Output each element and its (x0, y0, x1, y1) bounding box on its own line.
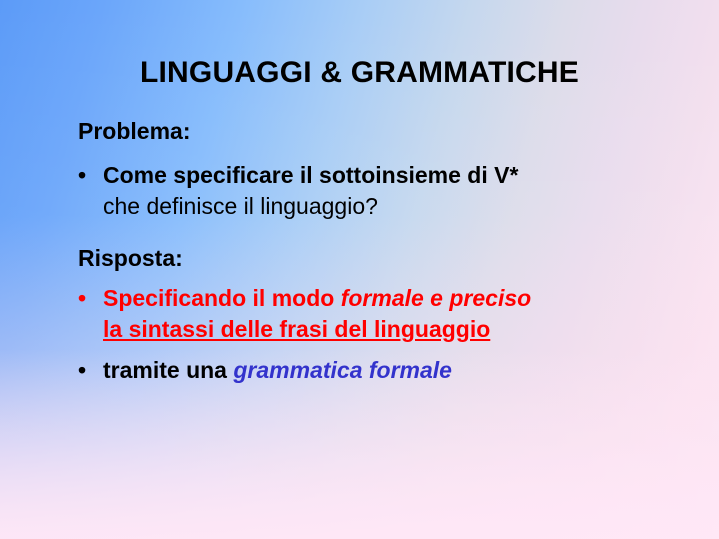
bullet-segment-emphasis: grammatica formale (233, 357, 452, 383)
bullet-segment-underlined: la sintassi delle frasi del linguaggio (103, 316, 490, 342)
list-item-text: Specificando il modo formale e preciso l… (103, 283, 688, 345)
list-item: • Specificando il modo formale e preciso… (78, 283, 688, 345)
list-item: • Come specificare il sottoinsieme di V*… (78, 160, 688, 222)
page-title: LINGUAGGI & GRAMMATICHE (0, 56, 719, 90)
bullet-block-risposta-1: • Specificando il modo formale e preciso… (78, 283, 688, 345)
slide-canvas: LINGUAGGI & GRAMMATICHE Problema: • Come… (0, 0, 719, 539)
bullet-segment-plain: Specificando il modo (103, 285, 341, 311)
bullet-marker-icon: • (78, 160, 103, 190)
list-item-text: tramite una grammatica formale (103, 355, 688, 386)
bullet-line-1: Specificando il modo formale e preciso (103, 283, 688, 314)
bullet-marker-icon: • (78, 283, 103, 313)
list-item-text: Come specificare il sottoinsieme di V* c… (103, 160, 688, 222)
bullet-line-2: la sintassi delle frasi del linguaggio (103, 314, 688, 345)
section-heading-problema: Problema: (78, 118, 190, 145)
bullet-block-problema: • Come specificare il sottoinsieme di V*… (78, 160, 688, 222)
bullet-segment-emphasis: formale e preciso (341, 285, 531, 311)
bullet-line-2: che definisce il linguaggio? (103, 191, 688, 222)
bullet-line-1: Come specificare il sottoinsieme di V* (103, 160, 688, 191)
bullet-line-1: tramite una grammatica formale (103, 355, 688, 386)
bullet-block-risposta-2: • tramite una grammatica formale (78, 355, 688, 386)
section-heading-risposta: Risposta: (78, 245, 183, 272)
bullet-segment-plain: tramite una (103, 357, 233, 383)
bullet-marker-icon: • (78, 355, 103, 385)
list-item: • tramite una grammatica formale (78, 355, 688, 386)
